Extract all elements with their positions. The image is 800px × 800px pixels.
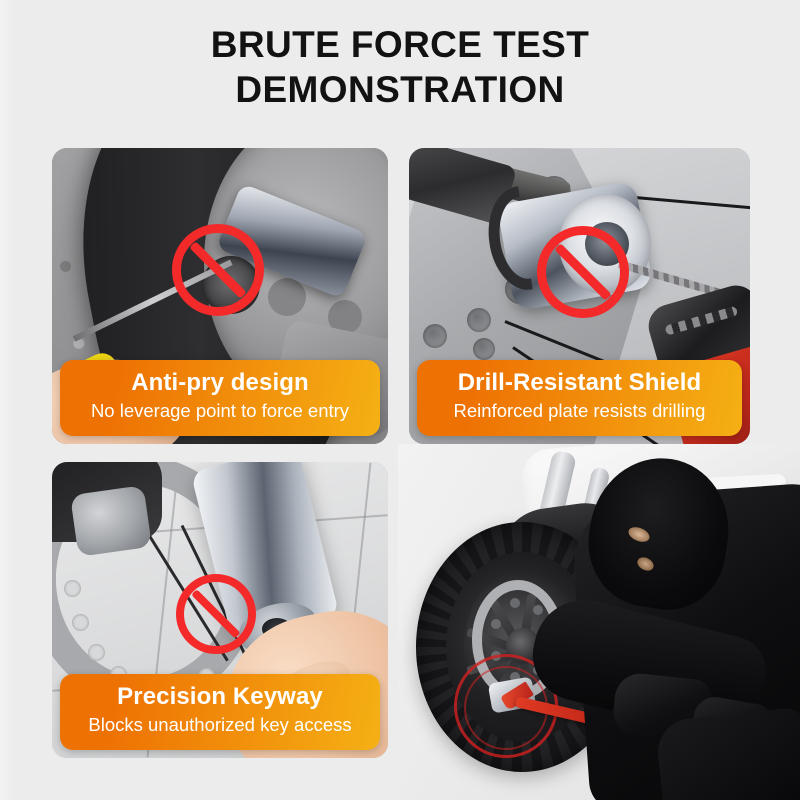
plate-hole: [423, 324, 447, 348]
page-title: BRUTE FORCE TEST DEMONSTRATION: [0, 22, 800, 112]
plate-hole: [467, 308, 491, 332]
rotor-hole: [64, 580, 81, 597]
background-left-strip: [0, 0, 14, 800]
feature-card-anti-pry[interactable]: Anti-pry design No leverage point to for…: [52, 148, 388, 444]
page-title-line-2: DEMONSTRATION: [0, 67, 800, 112]
caption-title: Drill-Resistant Shield: [427, 369, 732, 397]
page-title-line-1: BRUTE FORCE TEST: [211, 24, 589, 65]
feature-card-precision-keyway[interactable]: Precision Keyway Blocks unauthorized key…: [52, 462, 388, 758]
no-entry-icon: [176, 574, 256, 654]
caption-subtitle: No leverage point to force entry: [70, 399, 370, 423]
caption-title: Anti-pry design: [70, 369, 370, 397]
no-entry-bar: [554, 243, 611, 300]
caption-banner-drill-resistant: Drill-Resistant Shield Reinforced plate …: [417, 360, 742, 436]
thief-scene-image: [398, 444, 800, 800]
plate-hole: [473, 338, 495, 360]
no-entry-bar: [191, 589, 241, 639]
rotor-hole: [72, 614, 89, 631]
disc-hole: [491, 619, 501, 629]
caption-subtitle: Blocks unauthorized key access: [70, 713, 370, 737]
disc-hole: [533, 605, 543, 615]
caption-banner-anti-pry: Anti-pry design No leverage point to for…: [60, 360, 380, 436]
no-entry-icon: [537, 226, 629, 318]
caption-subtitle: Reinforced plate resists drilling: [427, 399, 732, 423]
feature-card-drill-resistant[interactable]: Drill-Resistant Shield Reinforced plate …: [409, 148, 750, 444]
no-entry-icon: [172, 224, 264, 316]
disc-hole: [510, 598, 520, 608]
caption-banner-precision-keyway: Precision Keyway Blocks unauthorized key…: [60, 674, 380, 750]
page-header: BRUTE FORCE TEST DEMONSTRATION: [0, 22, 800, 112]
no-entry-bar: [189, 241, 246, 298]
caption-title: Precision Keyway: [70, 683, 370, 711]
axle-nut-shape: [70, 485, 152, 557]
rotor-hole: [88, 644, 105, 661]
